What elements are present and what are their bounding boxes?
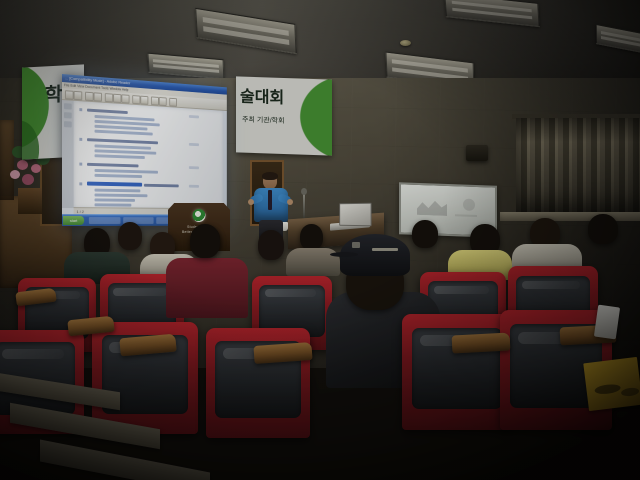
presenter-right-hand [287,199,293,205]
smoke-detector-icon [400,40,411,46]
cap-logo-icon [372,248,398,251]
presenter-tie [268,190,272,210]
presenter-left-hand [248,199,254,205]
curtain [516,118,640,214]
banner-right: 술대회 주최 기관/학회 [236,76,332,155]
audience-area [0,218,640,480]
flower-stand [18,188,42,214]
wall-speaker-icon [466,145,488,161]
audience-head [258,230,284,260]
pdf-page [74,101,224,209]
banner-right-text: 술대회 [240,82,284,108]
audience-shoulders [166,258,248,318]
auditorium-seat[interactable] [402,314,512,430]
handheld-device[interactable] [594,305,620,340]
cap-brim [330,252,358,257]
audience-head [190,224,220,258]
cap-logo-icon [352,242,360,248]
seat-armrest [452,332,511,353]
audience-head [300,224,323,250]
audience-head [118,222,142,250]
pdf-highlighted-line[interactable] [87,182,142,187]
audience-head [412,220,438,248]
program-booklet[interactable] [583,357,640,411]
audience-head [588,214,618,244]
banner-right-subtext: 주최 기관/학회 [242,115,285,126]
presenter-hair [262,172,278,180]
lecture-hall-photo: 학술 일시 술대회 주최 기관/학회 ... [Compatibility Mo… [0,0,640,480]
stair-step [40,439,210,480]
